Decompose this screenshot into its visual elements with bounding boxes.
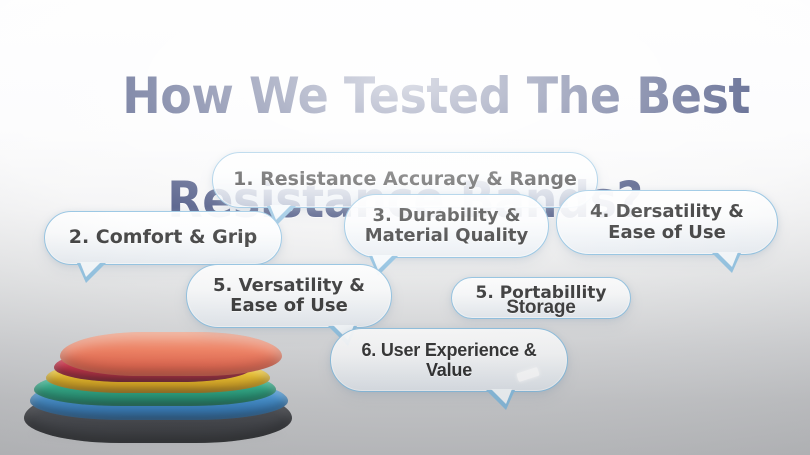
slide-canvas: How We Tested The Best Resistance Bands?… xyxy=(0,0,810,455)
bubble-2-comfort-grip[interactable]: 2. Comfort & Grip xyxy=(44,211,282,265)
bubble-5-versatility-ease-of-use[interactable]: 5. Versatility & Ease of Use xyxy=(186,264,392,328)
bubble-7-label: 6. User Experience & Value xyxy=(361,340,536,381)
bubble-4-dersatility-ease-of-use[interactable]: 4. Dersatility & Ease of Use xyxy=(556,190,778,255)
bubble-3-label: 3. Durability & Material Quality xyxy=(365,206,528,247)
bubble-6-portability-storage[interactable]: 5. Portabillity Storage xyxy=(451,277,631,319)
bubble-2-label: 2. Comfort & Grip xyxy=(69,227,258,248)
bubble-6-text-stack: 5. Portabillity Storage xyxy=(452,278,630,318)
resistance-bands-stack xyxy=(24,330,292,445)
bubble-6-label-line-2: Storage xyxy=(452,297,630,318)
bubble-5-label: 5. Versatility & Ease of Use xyxy=(213,276,365,317)
bubble-2-tail xyxy=(77,263,106,283)
band-layer-orange xyxy=(60,332,282,376)
bubble-4-tail xyxy=(712,253,741,273)
bubble-1-label: 1. Resistance Accuracy & Range xyxy=(233,169,577,190)
bubble-7-tail xyxy=(486,390,515,410)
page-title-line-1: How We Tested The Best xyxy=(122,67,750,125)
bubble-3-durability-material-quality[interactable]: 3. Durability & Material Quality xyxy=(344,194,549,258)
bubble-7-user-experience-value[interactable]: 6. User Experience & Value xyxy=(330,328,568,392)
bubble-4-label: 4. Dersatility & Ease of Use xyxy=(590,202,744,243)
